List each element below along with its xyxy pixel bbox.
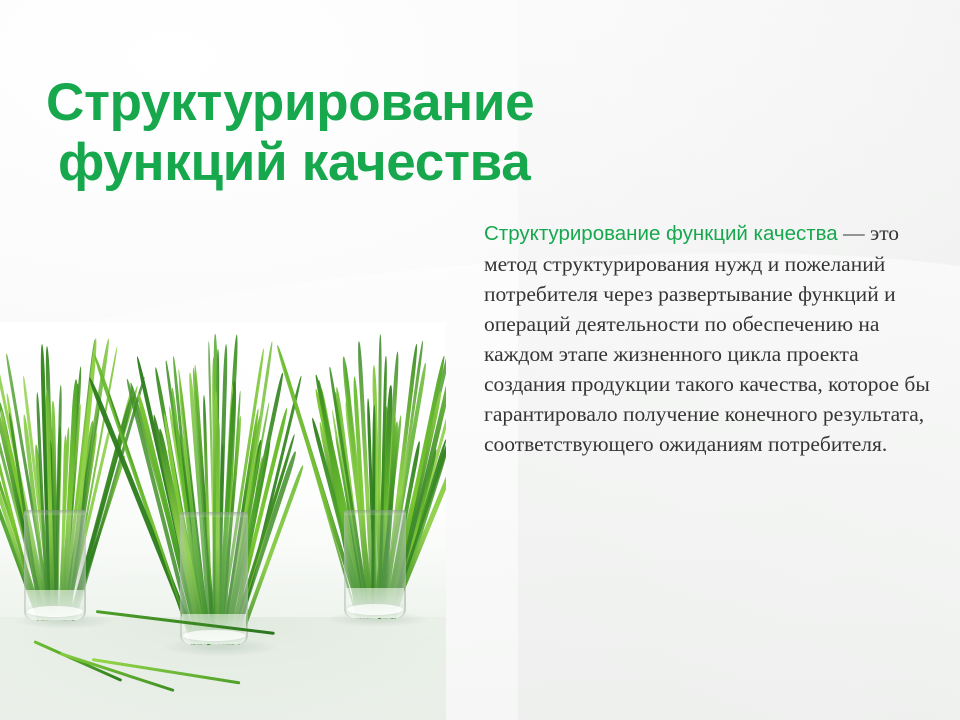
grass-vase-1 — [0, 332, 110, 620]
presentation-slide: Структурирование функций качества — [0, 0, 960, 720]
glass-cylinder-3 — [344, 510, 406, 618]
body-paragraph: Структурирование функций качества — это … — [484, 218, 942, 459]
slide-title-line-1: Структурирование — [46, 73, 534, 132]
glass-base-3 — [347, 604, 403, 615]
slide-title: Структурирование функций качества — [46, 14, 686, 251]
definition-text: — это метод структурирования нужд и поже… — [484, 221, 930, 456]
lead-term: Структурирование функций качества — [484, 222, 838, 245]
glass-cylinder-1 — [24, 510, 86, 620]
grass-vase-3 — [318, 332, 432, 618]
slide-photo — [0, 322, 446, 720]
glass-rim-3 — [344, 510, 406, 515]
glass-base-1 — [27, 606, 83, 617]
glass-base-2 — [183, 630, 245, 641]
slide-title-line-2: функций качества — [46, 133, 686, 192]
glass-rim-2 — [180, 512, 248, 517]
grass-vase-2 — [152, 330, 276, 644]
glass-rim-1 — [24, 510, 86, 515]
